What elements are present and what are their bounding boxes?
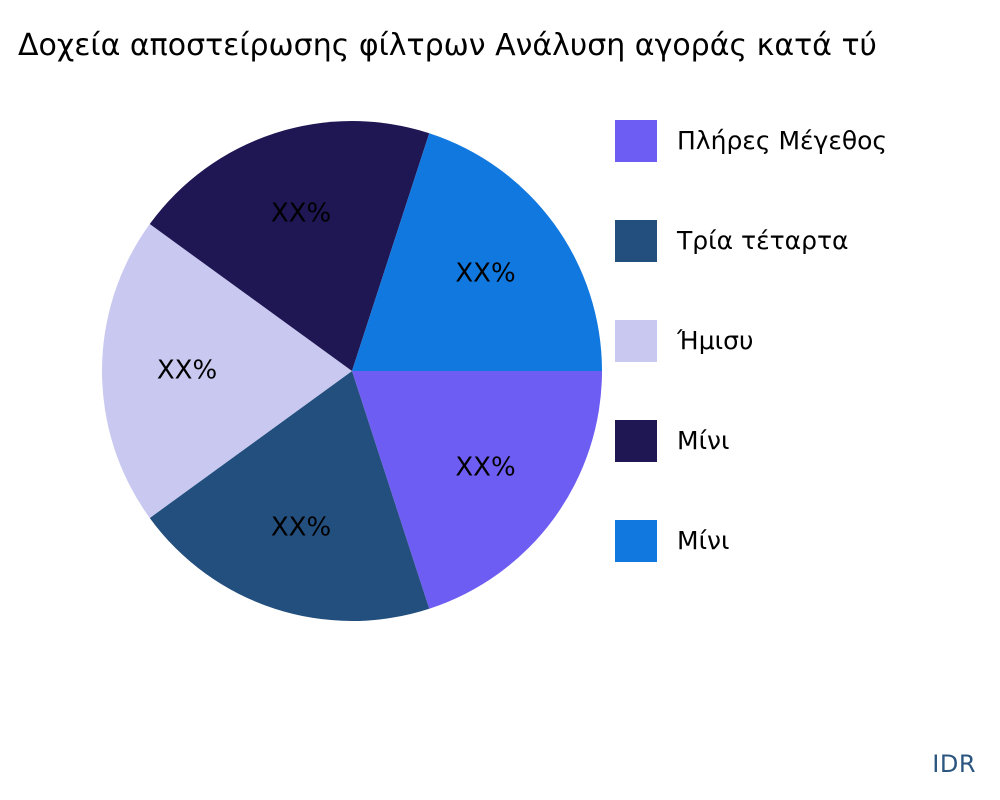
legend-item[interactable]: Μίνι — [615, 515, 995, 615]
legend-item-label: Μίνι — [677, 521, 729, 561]
legend-item-label: Μίνι — [677, 421, 729, 461]
legend-color-swatch — [615, 320, 657, 362]
legend-item[interactable]: Τρία τέταρτα — [615, 215, 995, 315]
legend-item-label: Ήμισυ — [677, 321, 753, 361]
pie-chart-area: XX%XX%XX%XX%XX% — [0, 0, 640, 760]
legend-item[interactable]: Πλήρες Μέγεθος — [615, 115, 995, 215]
chart-canvas: Δοχεία αποστείρωσης φίλτρων Ανάλυση αγορ… — [0, 0, 1000, 800]
legend-item[interactable]: Μίνι — [615, 415, 995, 515]
pie-slice-label: XX% — [455, 259, 515, 289]
legend-color-swatch — [615, 420, 657, 462]
pie-chart-svg: XX%XX%XX%XX%XX% — [0, 0, 640, 760]
pie-slice-label: XX% — [157, 356, 217, 386]
legend-color-swatch — [615, 220, 657, 262]
legend-item-label: Τρία τέταρτα — [677, 221, 849, 261]
legend-color-swatch — [615, 520, 657, 562]
legend-item[interactable]: Ήμισυ — [615, 315, 995, 415]
pie-slice-label: XX% — [271, 199, 331, 229]
legend-item-label: Πλήρες Μέγεθος — [677, 121, 887, 161]
pie-slice-label: XX% — [271, 512, 331, 542]
pie-slice-label: XX% — [455, 453, 515, 483]
legend-color-swatch — [615, 120, 657, 162]
source-label: IDR — [932, 750, 976, 778]
legend: Πλήρες ΜέγεθοςΤρία τέταρταΉμισυΜίνιΜίνι — [615, 115, 995, 615]
